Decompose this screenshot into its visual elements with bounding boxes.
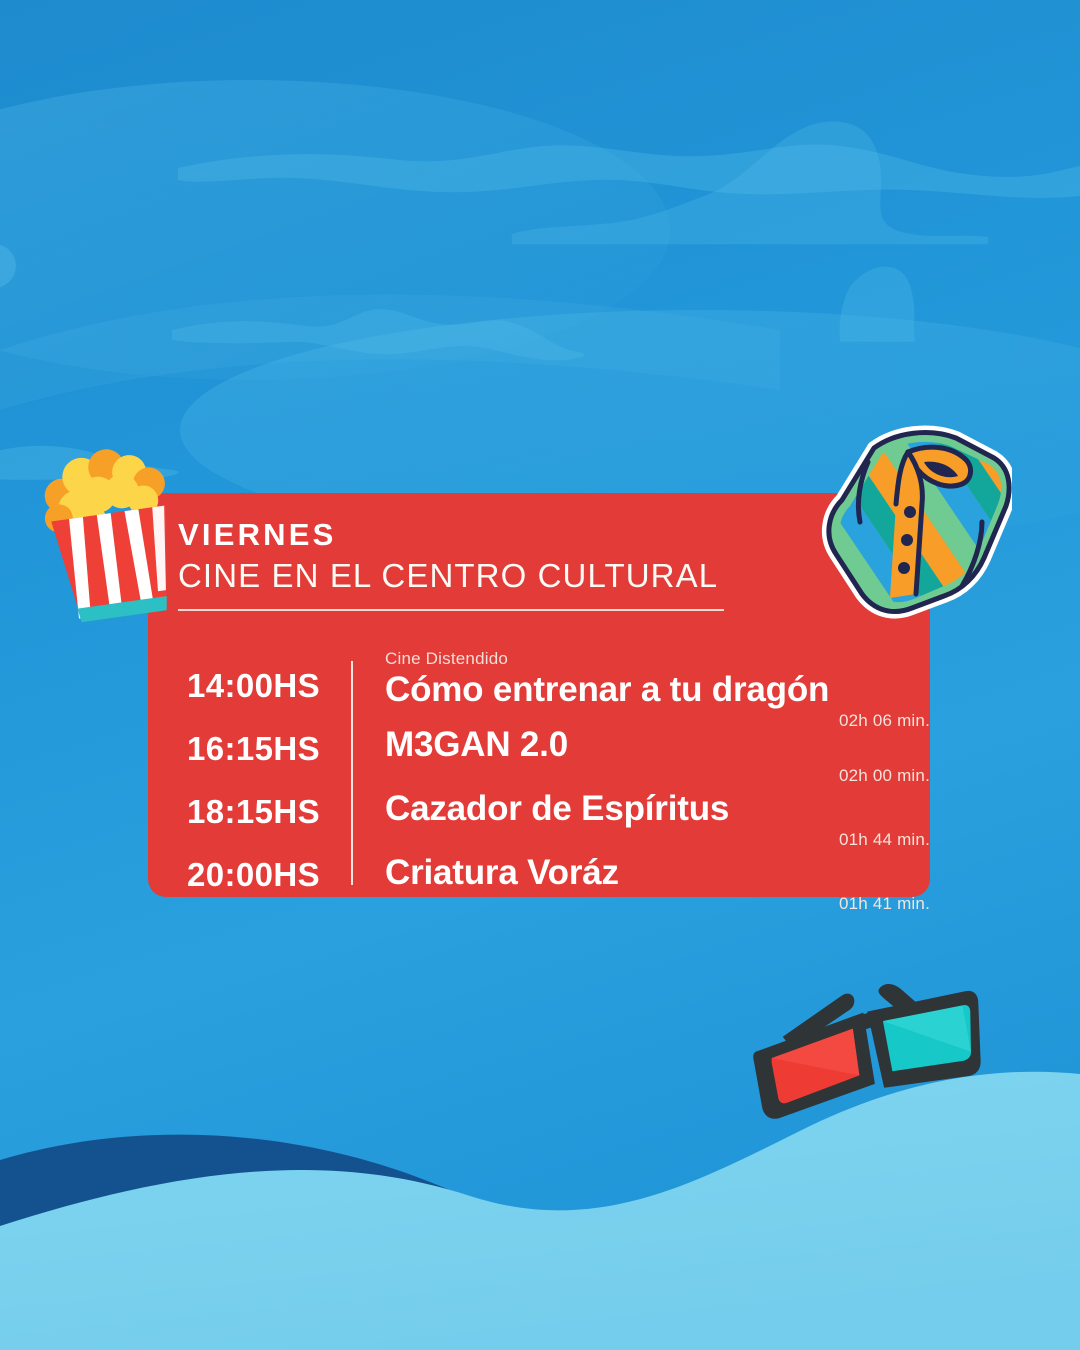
3d-glasses-icon — [748, 972, 996, 1144]
listing-tag: Cine Distendido — [385, 649, 508, 669]
header-divider-rule — [178, 609, 724, 611]
listing-duration: 01h 41 min. — [385, 893, 930, 916]
listing-title: Criatura Voráz — [385, 853, 619, 892]
listing-title: M3GAN 2.0 — [385, 725, 568, 764]
listing-title: Cazador de Espíritus — [385, 789, 729, 828]
listing-row[interactable]: 14:00HS Cine Distendido Cómo entrenar a … — [156, 661, 930, 724]
popcorn-bucket-icon — [28, 437, 198, 627]
listing-time: 14:00HS — [156, 661, 351, 705]
listing-detail: Cine Distendido Cómo entrenar a tu dragó… — [351, 649, 930, 733]
listing-detail: Cazador de Espíritus 01h 44 min. — [351, 789, 930, 852]
listing-time: 18:15HS — [156, 787, 351, 831]
listing-row[interactable]: 18:15HS Cazador de Espíritus 01h 44 min. — [156, 787, 930, 850]
listing-time: 20:00HS — [156, 850, 351, 894]
listing-duration: 01h 44 min. — [385, 829, 930, 852]
listing-duration: 02h 00 min. — [385, 765, 930, 788]
striped-cardigan-icon — [812, 418, 1012, 626]
listing-row[interactable]: 20:00HS Criatura Voráz 01h 41 min. — [156, 850, 930, 913]
listing-table: 14:00HS Cine Distendido Cómo entrenar a … — [148, 661, 930, 913]
listing-detail: Criatura Voráz 01h 41 min. — [351, 853, 930, 916]
listing-row[interactable]: 16:15HS M3GAN 2.0 02h 00 min. — [156, 724, 930, 787]
column-divider — [351, 661, 353, 885]
listing-detail: M3GAN 2.0 02h 00 min. — [351, 725, 930, 788]
listing-title: Cómo entrenar a tu dragón — [385, 670, 829, 709]
listing-time: 16:15HS — [156, 724, 351, 768]
